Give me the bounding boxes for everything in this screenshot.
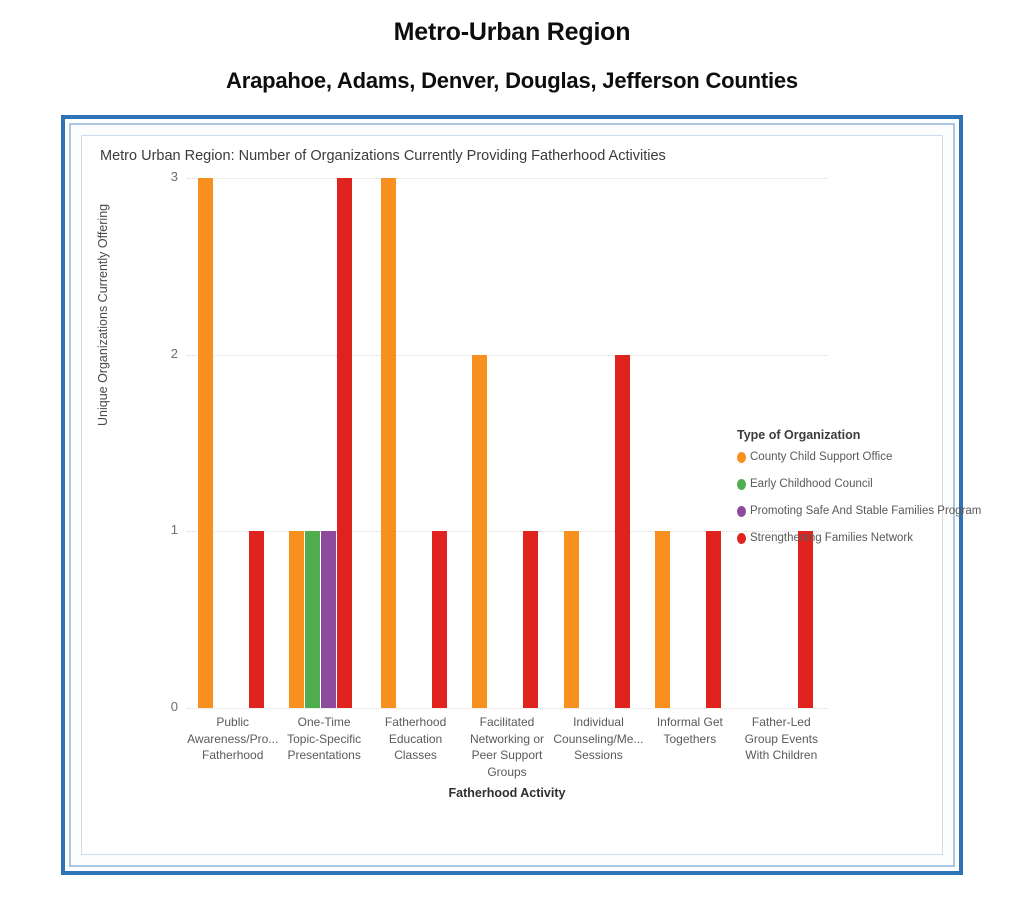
chart-frame-middle: Metro Urban Region: Number of Organizati…	[69, 123, 955, 867]
chart-frame-outer: Metro Urban Region: Number of Organizati…	[61, 115, 963, 875]
x-axis-tick: FatherhoodEducationClasses	[370, 714, 461, 764]
legend-swatch-icon	[737, 506, 746, 517]
x-axis-tick-line: Classes	[370, 747, 461, 764]
x-axis-tick-line: One-Time	[278, 714, 369, 731]
legend-swatch-icon	[737, 533, 746, 544]
bar	[337, 178, 352, 708]
bar	[381, 178, 396, 708]
x-axis-tick-line: Fatherhood	[187, 747, 278, 764]
x-axis-tick-line: Counseling/Me...	[553, 731, 644, 748]
x-axis-tick-line: Networking or	[461, 731, 552, 748]
x-axis-tick-line: Peer Support	[461, 747, 552, 764]
x-axis-tick: One-TimeTopic-SpecificPresentations	[278, 714, 369, 764]
page-title: Metro-Urban Region	[0, 18, 1024, 47]
bar	[564, 531, 579, 708]
bar	[198, 178, 213, 708]
slide-page: Metro-Urban Region Arapahoe, Adams, Denv…	[0, 0, 1024, 897]
bar	[289, 531, 304, 708]
x-axis-tick-line: Topic-Specific	[278, 731, 369, 748]
plot-wrapper: Unique Organizations Currently Offering …	[82, 136, 942, 854]
legend-item[interactable]: County Child Support Office	[737, 451, 967, 463]
legend-item[interactable]: Promoting Safe And Stable Families Progr…	[737, 505, 967, 517]
y-axis-tick: 0	[154, 699, 178, 714]
chart-legend: Type of Organization County Child Suppor…	[737, 428, 967, 559]
x-axis-tick-line: Father-Led	[736, 714, 827, 731]
legend-label: Early Childhood Council	[750, 478, 873, 490]
x-axis-tick: FacilitatedNetworking orPeer SupportGrou…	[461, 714, 552, 780]
page-subtitle: Arapahoe, Adams, Denver, Douglas, Jeffer…	[0, 68, 1024, 94]
x-axis-tick-line: Sessions	[553, 747, 644, 764]
x-axis-tick-line: Individual	[553, 714, 644, 731]
legend-item[interactable]: Early Childhood Council	[737, 478, 967, 490]
x-axis-tick-line: Group Events	[736, 731, 827, 748]
x-axis-tick-line: Public	[187, 714, 278, 731]
x-axis-tick-line: Togethers	[644, 731, 735, 748]
legend-swatch-icon	[737, 452, 746, 463]
x-axis-tick-line: Informal Get	[644, 714, 735, 731]
x-axis-tick-line: Education	[370, 731, 461, 748]
chart-panel: Metro Urban Region: Number of Organizati…	[81, 135, 943, 855]
plot-area	[187, 178, 827, 708]
x-axis-tick-line: Groups	[461, 764, 552, 781]
bar	[615, 355, 630, 708]
x-axis-tick: Father-LedGroup EventsWith Children	[736, 714, 827, 764]
x-axis-tick-line: With Children	[736, 747, 827, 764]
bar	[523, 531, 538, 708]
x-axis-tick: IndividualCounseling/Me...Sessions	[553, 714, 644, 764]
x-axis-tick-line: Awareness/Pro...	[187, 731, 278, 748]
bar	[706, 531, 721, 708]
legend-label: Strengthening Families Network	[750, 532, 913, 544]
bar	[655, 531, 670, 708]
x-axis-tick-line: Fatherhood	[370, 714, 461, 731]
bar	[305, 531, 320, 708]
gridline	[187, 708, 827, 709]
bar	[472, 355, 487, 708]
y-axis-tick: 3	[154, 169, 178, 184]
legend-title: Type of Organization	[737, 428, 967, 442]
x-axis-tick: PublicAwareness/Pro...Fatherhood	[187, 714, 278, 764]
legend-item[interactable]: Strengthening Families Network	[737, 532, 967, 544]
legend-swatch-icon	[737, 479, 746, 490]
x-axis-tick: Informal GetTogethers	[644, 714, 735, 747]
y-axis-tick: 1	[154, 522, 178, 537]
x-axis-tick-line: Facilitated	[461, 714, 552, 731]
x-axis-tick-line: Presentations	[278, 747, 369, 764]
bar	[321, 531, 336, 708]
y-axis-tick: 2	[154, 346, 178, 361]
gridline	[187, 531, 827, 532]
gridline	[187, 355, 827, 356]
x-axis-tick-labels: PublicAwareness/Pro...FatherhoodOne-Time…	[187, 714, 827, 794]
legend-label: County Child Support Office	[750, 451, 892, 463]
legend-label: Promoting Safe And Stable Families Progr…	[750, 505, 981, 517]
x-axis-title: Fatherhood Activity	[187, 786, 827, 800]
bar	[432, 531, 447, 708]
bar	[249, 531, 264, 708]
gridline	[187, 178, 827, 179]
legend-items: County Child Support OfficeEarly Childho…	[737, 451, 967, 544]
